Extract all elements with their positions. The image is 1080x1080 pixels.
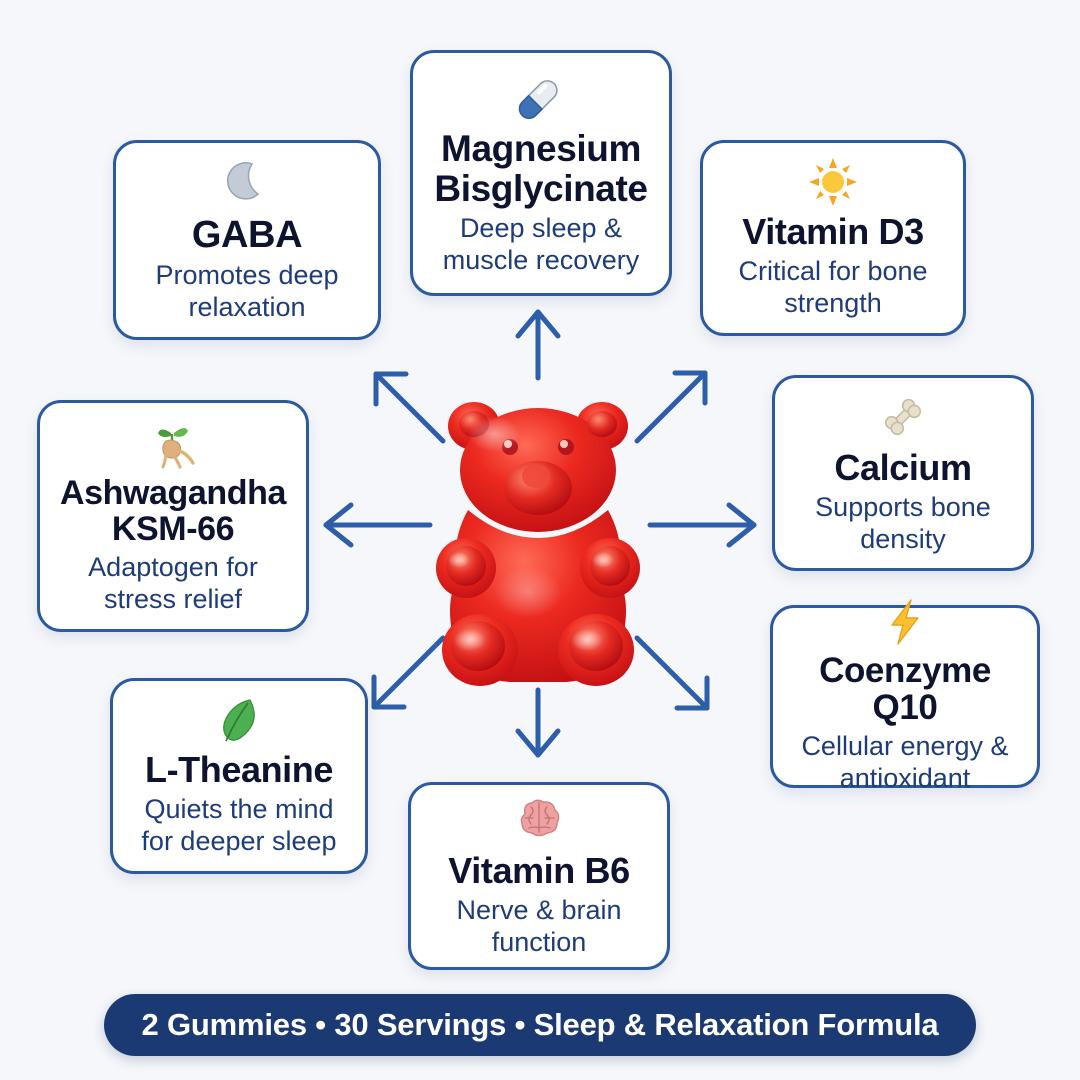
brain-icon (513, 794, 565, 846)
card-subtitle: Cellular energy & antioxidant (785, 731, 1025, 795)
ingredient-card-ltheanine[interactable]: L-Theanine Quiets the mind for deeper sl… (110, 678, 368, 874)
sun-icon (808, 157, 858, 207)
arrow-to-vitamind3 (637, 373, 705, 441)
capsule-icon (514, 69, 568, 123)
arrow-to-magnesium (518, 312, 558, 378)
arrow-to-vitaminb6 (518, 690, 558, 755)
ingredient-card-vitamind3[interactable]: Vitamin D3 Critical for bone strength (700, 140, 966, 336)
card-subtitle: Promotes deep relaxation (128, 260, 366, 324)
ingredient-card-coq10[interactable]: Coenzyme Q10 Cellular energy & antioxida… (770, 605, 1040, 788)
arrow-to-calcium (650, 505, 754, 545)
card-subtitle: Critical for bone strength (715, 256, 951, 320)
arrow-to-coq10 (637, 638, 707, 708)
card-title: Ashwagandha KSM-66 (52, 475, 294, 547)
card-title: GABA (192, 215, 302, 255)
card-title: Magnesium Bisglycinate (425, 129, 657, 207)
card-title: Coenzyme Q10 (785, 652, 1025, 726)
leaf-icon (214, 695, 264, 745)
bone-icon (877, 391, 929, 443)
infographic-canvas: GABA Promotes deep relaxation Magnesium … (0, 0, 1080, 1080)
card-subtitle: Quiets the mind for deeper sleep (125, 794, 353, 858)
card-subtitle: Adaptogen for stress relief (52, 552, 294, 616)
gummy-bear (432, 392, 644, 692)
ingredient-card-magnesium[interactable]: Magnesium Bisglycinate Deep sleep & musc… (410, 50, 672, 296)
card-subtitle: Nerve & brain function (423, 895, 655, 959)
arrow-to-ashwagandha (326, 505, 430, 545)
card-subtitle: Deep sleep & muscle recovery (425, 213, 657, 277)
ingredient-card-ashwagandha[interactable]: Ashwagandha KSM-66 Adaptogen for stress … (37, 400, 309, 632)
card-title: Calcium (834, 449, 971, 487)
ingredient-card-calcium[interactable]: Calcium Supports bone density (772, 375, 1034, 571)
moon-icon (221, 157, 273, 209)
ingredient-card-vitaminb6[interactable]: Vitamin B6 Nerve & brain function (408, 782, 670, 970)
ingredient-card-gaba[interactable]: GABA Promotes deep relaxation (113, 140, 381, 340)
card-subtitle: Supports bone density (787, 492, 1019, 556)
card-title: Vitamin D3 (742, 213, 923, 251)
lightning-bolt-icon (881, 598, 929, 646)
formula-banner: 2 Gummies • 30 Servings • Sleep & Relaxa… (104, 994, 976, 1056)
card-title: Vitamin B6 (448, 852, 629, 890)
formula-banner-text: 2 Gummies • 30 Servings • Sleep & Relaxa… (142, 1007, 939, 1043)
root-herb-icon (147, 417, 199, 469)
card-title: L-Theanine (145, 751, 333, 789)
